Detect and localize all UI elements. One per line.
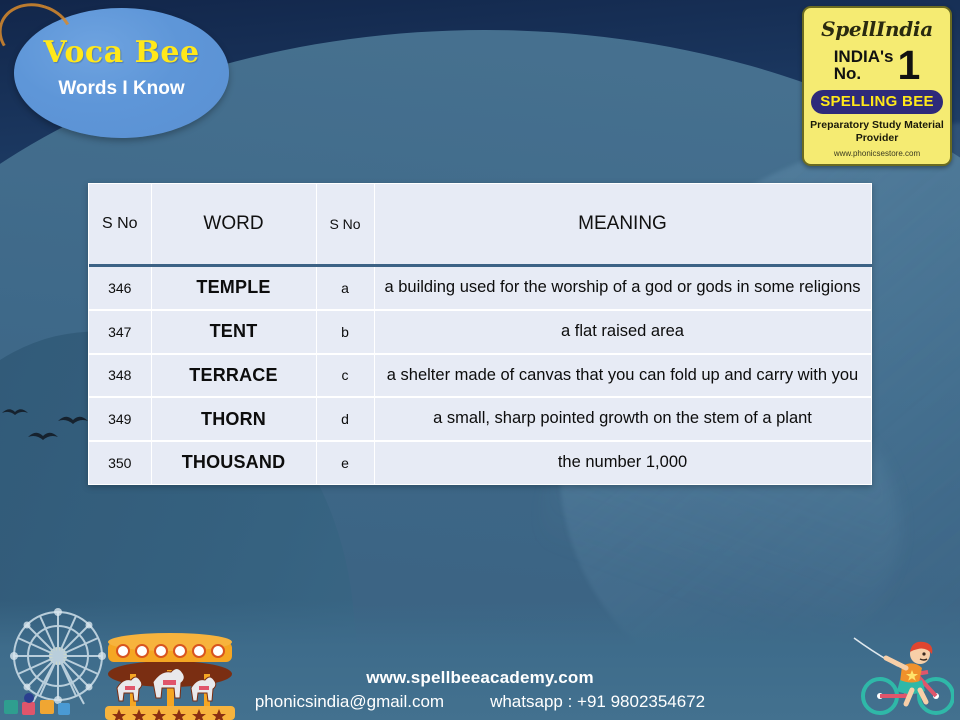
cell-sno: 350 [89,441,151,484]
logo-title: Voca Bee [14,35,229,70]
cell-word: TEMPLE [151,266,316,310]
cell-meaning: a shelter made of canvas that you can fo… [374,354,871,398]
cell-letter: a [316,266,374,310]
footer-website[interactable]: www.spellbeeacademy.com [0,668,960,688]
cell-word: TERRACE [151,354,316,398]
badge-spelling-bee-pill: SPELLING BEE [811,90,943,114]
cell-letter: e [316,441,374,484]
slide-canvas: Voca Bee Words I Know SpellIndia INDIA's… [0,0,960,720]
footer-whatsapp: whatsapp : +91 9802354672 [490,692,705,712]
footer-contact-row: phonicsindia@gmail.com whatsapp : +91 98… [0,692,960,712]
header-sno2: S No [316,184,374,266]
badge-rank-line2: No. [834,65,894,83]
vocabulary-table-container: S No WORD S No MEANING 346 TEMPLE a a bu… [88,183,872,485]
badge-brand-name: SpellIndia [804,17,950,41]
cell-word: TENT [151,310,316,354]
cell-meaning: the number 1,000 [374,441,871,484]
cell-sno: 347 [89,310,151,354]
header-word: WORD [151,184,316,266]
footer: www.spellbeeacademy.com phonicsindia@gma… [0,668,960,712]
table-header-row: S No WORD S No MEANING [89,184,871,266]
table-row: 346 TEMPLE a a building used for the wor… [89,266,871,310]
vocabulary-table: S No WORD S No MEANING 346 TEMPLE a a bu… [89,184,872,484]
cell-meaning: a flat raised area [374,310,871,354]
header-meaning: MEANING [374,184,871,266]
logo-subtitle: Words I Know [14,78,229,100]
header-sno: S No [89,184,151,266]
cell-letter: b [316,310,374,354]
cell-sno: 349 [89,397,151,441]
table-row: 349 THORN d a small, sharp pointed growt… [89,397,871,441]
cell-meaning: a small, sharp pointed growth on the ste… [374,397,871,441]
badge-tagline: Preparatory Study Material Provider [804,119,950,145]
footer-email[interactable]: phonicsindia@gmail.com [255,692,444,712]
cell-letter: d [316,397,374,441]
badge-rank-block: INDIA's No. 1 [804,46,950,85]
table-row: 348 TERRACE c a shelter made of canvas t… [89,354,871,398]
badge-rank-number: 1 [897,46,920,85]
badge-rank-text: INDIA's No. [834,48,894,84]
cell-sno: 348 [89,354,151,398]
cell-meaning: a building used for the worship of a god… [374,266,871,310]
table-row: 350 THOUSAND e the number 1,000 [89,441,871,484]
badge-rank-line1: INDIA's [834,48,894,66]
cell-sno: 346 [89,266,151,310]
brand-logo: Voca Bee Words I Know [14,8,229,138]
table-row: 347 TENT b a flat raised area [89,310,871,354]
badge-url: www.phonicsestore.com [804,149,950,158]
cell-word: THORN [151,397,316,441]
spellindia-badge: SpellIndia INDIA's No. 1 SPELLING BEE Pr… [802,6,952,166]
cell-word: THOUSAND [151,441,316,484]
cell-letter: c [316,354,374,398]
